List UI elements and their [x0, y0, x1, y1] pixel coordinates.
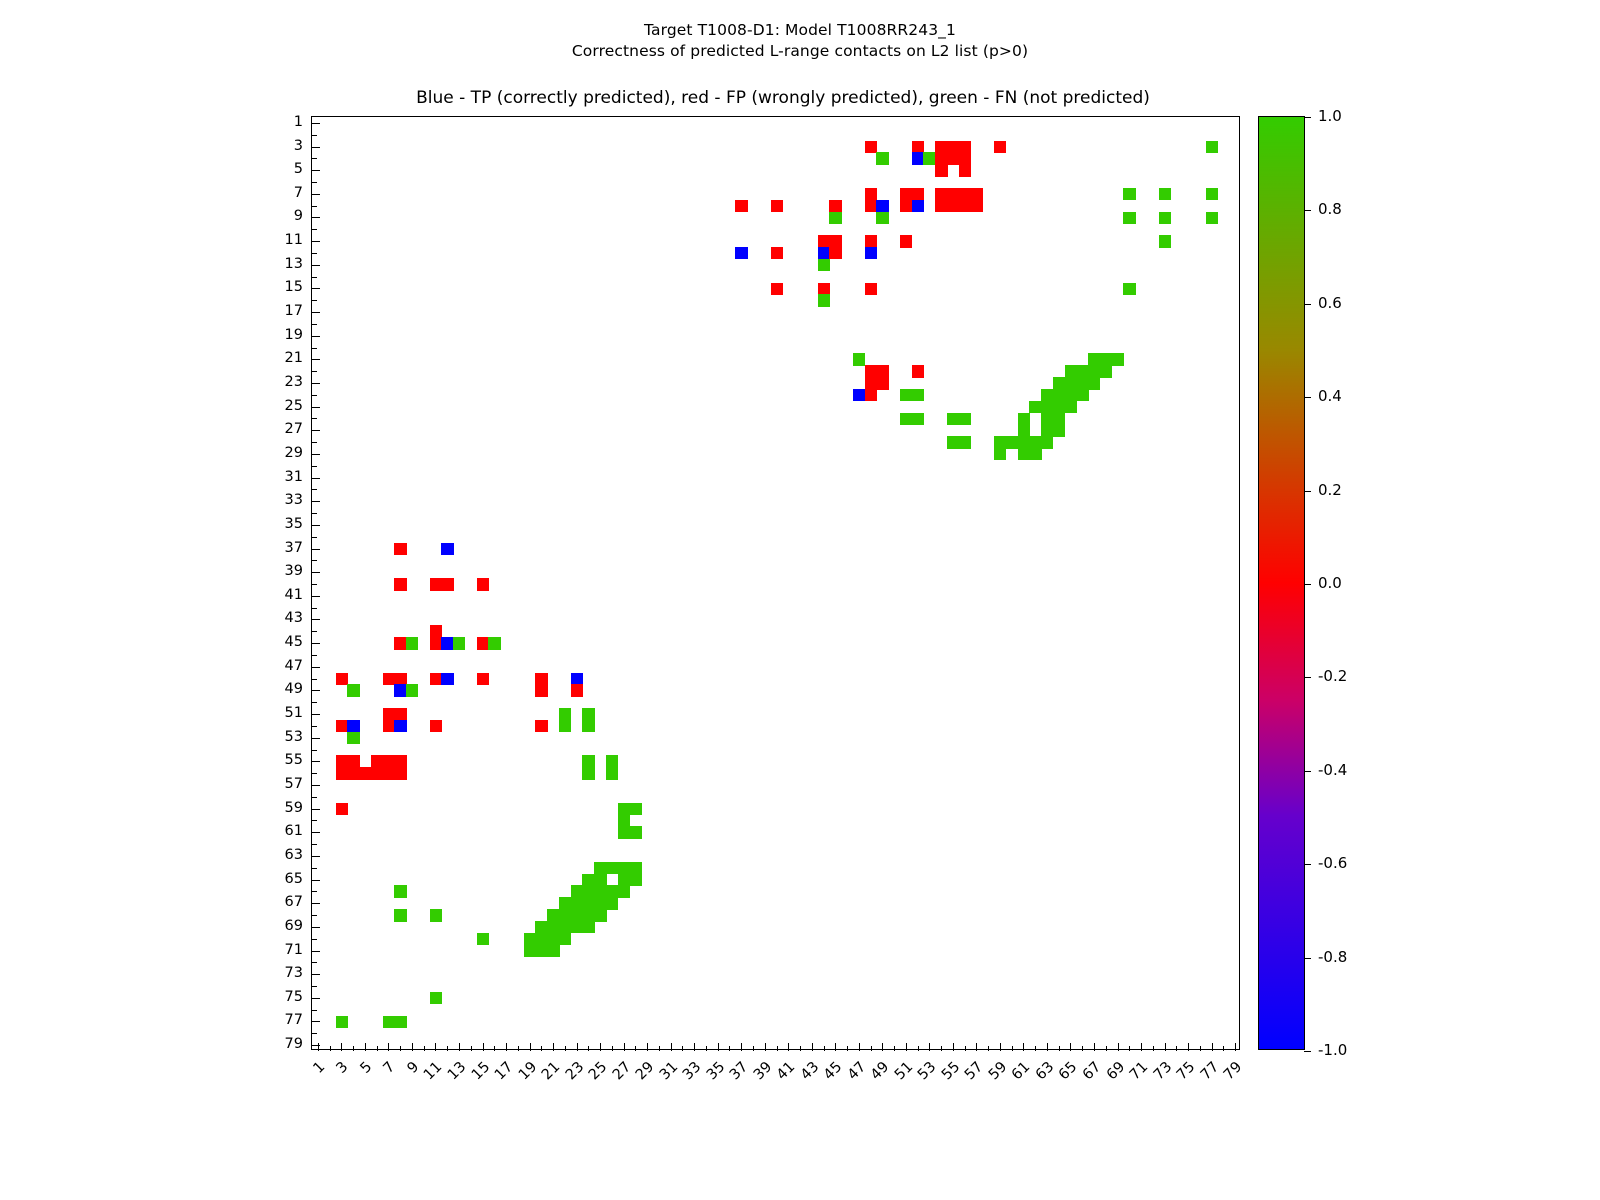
- y-axis-tick: [312, 300, 317, 301]
- figure-legend-note: Blue - TP (correctly predicted), red - F…: [0, 88, 1566, 108]
- x-axis-tick: [1212, 1043, 1213, 1051]
- title-line-2: Correctness of predicted L-range contact…: [0, 41, 1600, 62]
- y-axis-tick: [312, 750, 317, 751]
- x-axis-tick: [1200, 1046, 1201, 1051]
- colorbar-tick: [1304, 864, 1311, 865]
- y-axis-tick-label: 13: [0, 256, 303, 272]
- x-axis-tick: [729, 1046, 730, 1051]
- colorbar-tick-label: 0.0: [1318, 574, 1342, 592]
- y-axis-tick: [312, 939, 317, 940]
- y-axis-tick: [312, 761, 320, 762]
- x-axis-tick: [1070, 1043, 1071, 1051]
- title-line-1: Target T1008-D1: Model T1008RR243_1: [0, 20, 1600, 41]
- y-axis-tick: [312, 1033, 317, 1034]
- y-axis-tick: [312, 324, 317, 325]
- y-axis-tick: [312, 371, 317, 372]
- y-axis-tick: [312, 856, 320, 857]
- x-axis-tick: [400, 1046, 401, 1051]
- x-axis-tick: [965, 1046, 966, 1051]
- y-axis-tick-label: 59: [0, 800, 303, 816]
- x-axis-tick: [1129, 1046, 1130, 1051]
- x-axis-tick: [718, 1043, 719, 1051]
- x-axis-tick: [624, 1043, 625, 1051]
- y-axis-tick-label: 55: [0, 752, 303, 768]
- colorbar-tick-label: 0.2: [1318, 481, 1342, 499]
- y-axis-tick: [312, 537, 317, 538]
- x-axis-tick: [671, 1043, 672, 1051]
- x-axis-tick: [506, 1043, 507, 1051]
- y-axis-tick: [312, 359, 320, 360]
- y-axis-tick: [312, 880, 320, 881]
- x-axis-tick: [1153, 1046, 1154, 1051]
- y-axis-tick: [312, 123, 320, 124]
- y-axis-tick: [312, 395, 317, 396]
- figure-title: Target T1008-D1: Model T1008RR243_1 Corr…: [0, 20, 1600, 62]
- y-axis-tick: [312, 974, 320, 975]
- x-axis-tick: [741, 1043, 742, 1051]
- y-axis-tick: [312, 797, 317, 798]
- x-axis-tick: [577, 1043, 578, 1051]
- y-axis-tick: [312, 986, 317, 987]
- y-axis-tick: [312, 809, 320, 810]
- y-axis-tick-label: 71: [0, 942, 303, 958]
- y-axis-tick: [312, 265, 320, 266]
- x-axis-tick: [800, 1046, 801, 1051]
- axis-ticks-layer: [312, 117, 1239, 1049]
- y-axis-tick-label: 73: [0, 965, 303, 981]
- x-axis-tick: [929, 1043, 930, 1051]
- y-axis-tick: [312, 560, 317, 561]
- y-axis-tick-label: 17: [0, 303, 303, 319]
- y-axis-tick: [312, 738, 320, 739]
- y-axis-tick-label: 39: [0, 563, 303, 579]
- x-axis-tick: [777, 1046, 778, 1051]
- y-axis-tick: [312, 407, 320, 408]
- y-axis-tick: [312, 288, 320, 289]
- x-axis-tick: [647, 1043, 648, 1051]
- y-axis-tick-label: 63: [0, 847, 303, 863]
- colorbar-tick: [1304, 304, 1311, 305]
- x-axis-tick: [765, 1043, 766, 1051]
- x-axis-tick: [541, 1046, 542, 1051]
- y-axis-tick-label: 75: [0, 989, 303, 1005]
- y-axis-tick-label: 37: [0, 540, 303, 556]
- x-axis-tick: [447, 1046, 448, 1051]
- x-axis-tick: [859, 1043, 860, 1051]
- y-axis-tick-label: 21: [0, 350, 303, 366]
- x-axis-tick: [494, 1046, 495, 1051]
- y-axis-tick: [312, 714, 320, 715]
- x-axis-tick: [694, 1043, 695, 1051]
- y-axis-tick: [312, 466, 317, 467]
- y-axis-tick-label: 1: [0, 114, 303, 130]
- y-axis-tick: [312, 182, 317, 183]
- x-axis-tick: [894, 1046, 895, 1051]
- x-axis-tick: [1035, 1046, 1036, 1051]
- x-axis-tick: [600, 1043, 601, 1051]
- colorbar-tick: [1304, 491, 1311, 492]
- y-axis-tick-label: 61: [0, 823, 303, 839]
- colorbar[interactable]: [1258, 116, 1305, 1050]
- colorbar-tick: [1304, 117, 1311, 118]
- y-axis-tick-label: 49: [0, 681, 303, 697]
- y-axis-tick: [312, 643, 320, 644]
- x-axis-tick: [553, 1043, 554, 1051]
- x-axis-tick: [530, 1043, 531, 1051]
- y-axis-tick: [312, 962, 317, 963]
- y-axis-tick: [312, 998, 320, 999]
- y-axis-tick-label: 31: [0, 469, 303, 485]
- colorbar-tick-label: 1.0: [1318, 107, 1342, 125]
- x-axis-tick: [1141, 1043, 1142, 1051]
- y-axis-tick: [312, 217, 320, 218]
- colorbar-tick: [1304, 210, 1311, 211]
- x-axis-tick: [824, 1046, 825, 1051]
- y-axis-tick: [312, 253, 317, 254]
- y-axis-tick-label: 51: [0, 705, 303, 721]
- y-axis-tick-label: 23: [0, 374, 303, 390]
- x-axis-tick: [1059, 1046, 1060, 1051]
- y-axis-tick: [312, 158, 317, 159]
- y-axis-tick: [312, 690, 320, 691]
- x-axis-tick: [1188, 1043, 1189, 1051]
- x-axis-tick: [459, 1043, 460, 1051]
- y-axis-tick-label: 33: [0, 492, 303, 508]
- y-axis-tick-label: 57: [0, 776, 303, 792]
- colorbar-tick: [1304, 584, 1311, 585]
- y-axis-tick: [312, 702, 317, 703]
- y-axis-tick: [312, 513, 317, 514]
- colorbar-tick-label: 0.6: [1318, 294, 1342, 312]
- y-axis-tick: [312, 549, 320, 550]
- y-axis-tick: [312, 915, 317, 916]
- y-axis-tick: [312, 194, 320, 195]
- colorbar-tick-label: -0.6: [1318, 854, 1347, 872]
- x-axis-tick: [365, 1043, 366, 1051]
- x-axis-tick: [835, 1043, 836, 1051]
- x-axis-tick: [330, 1046, 331, 1051]
- y-axis-tick-label: 79: [0, 1036, 303, 1052]
- x-axis-tick: [918, 1046, 919, 1051]
- x-axis-tick: [847, 1046, 848, 1051]
- x-axis-tick: [1082, 1046, 1083, 1051]
- y-axis-tick: [312, 1021, 320, 1022]
- y-axis-tick-label: 19: [0, 327, 303, 343]
- y-axis-tick: [312, 1045, 320, 1046]
- x-axis-tick: [1118, 1043, 1119, 1051]
- x-axis-tick: [435, 1043, 436, 1051]
- x-axis-tick: [518, 1046, 519, 1051]
- y-axis-tick: [312, 336, 320, 337]
- y-axis-tick: [312, 501, 320, 502]
- colorbar-tick-label: -0.8: [1318, 948, 1347, 966]
- x-axis-tick: [706, 1046, 707, 1051]
- y-axis-tick: [312, 348, 317, 349]
- y-axis-tick: [312, 868, 317, 869]
- x-axis-tick: [412, 1043, 413, 1051]
- y-axis-tick: [312, 596, 320, 597]
- x-axis-tick: [565, 1046, 566, 1051]
- x-axis-tick: [1000, 1043, 1001, 1051]
- y-axis-tick-label: 15: [0, 279, 303, 295]
- x-axis-tick: [682, 1046, 683, 1051]
- y-axis-tick: [312, 631, 317, 632]
- y-axis-tick: [312, 891, 317, 892]
- x-axis-tick: [377, 1046, 378, 1051]
- y-axis-tick: [312, 170, 320, 171]
- x-axis-tick: [1176, 1046, 1177, 1051]
- y-axis-tick: [312, 773, 317, 774]
- y-axis-tick-label: 9: [0, 208, 303, 224]
- y-axis-tick-label: 67: [0, 894, 303, 910]
- colorbar-tick-label: -0.4: [1318, 761, 1347, 779]
- x-axis-tick: [353, 1046, 354, 1051]
- contact-map-plot-area[interactable]: [311, 116, 1240, 1050]
- x-axis-tick: [988, 1046, 989, 1051]
- colorbar-tick-label: 0.8: [1318, 200, 1342, 218]
- y-axis-tick: [312, 418, 317, 419]
- y-axis-tick-label: 47: [0, 658, 303, 674]
- y-axis-tick: [312, 903, 320, 904]
- colorbar-tick: [1304, 677, 1311, 678]
- x-axis-tick: [1235, 1043, 1236, 1051]
- x-axis-tick: [1094, 1043, 1095, 1051]
- y-axis-tick: [312, 619, 320, 620]
- colorbar-tick-label: 0.4: [1318, 387, 1342, 405]
- colorbar-tick: [1304, 771, 1311, 772]
- y-axis-tick: [312, 667, 320, 668]
- y-axis-tick: [312, 844, 317, 845]
- contact-map-figure: Target T1008-D1: Model T1008RR243_1 Corr…: [0, 0, 1600, 1200]
- x-axis-tick: [976, 1043, 977, 1051]
- x-axis-tick: [882, 1043, 883, 1051]
- y-axis-tick-label: 41: [0, 587, 303, 603]
- x-axis-tick: [1165, 1043, 1166, 1051]
- x-axis-tick: [788, 1043, 789, 1051]
- y-axis-tick: [312, 206, 317, 207]
- y-axis-tick: [312, 430, 320, 431]
- y-axis-tick: [312, 454, 320, 455]
- y-axis-tick: [312, 383, 320, 384]
- y-axis-tick: [312, 572, 320, 573]
- x-axis-tick: [1012, 1046, 1013, 1051]
- y-axis-tick: [312, 927, 320, 928]
- x-axis-tick: [1047, 1043, 1048, 1051]
- y-axis-tick: [312, 478, 320, 479]
- y-axis-tick: [312, 726, 317, 727]
- y-axis-tick: [312, 584, 317, 585]
- y-axis-tick: [312, 832, 320, 833]
- y-axis-tick: [312, 442, 317, 443]
- x-axis-tick: [483, 1043, 484, 1051]
- x-axis-tick: [812, 1043, 813, 1051]
- y-axis-tick: [312, 608, 317, 609]
- colorbar-tick-label: -0.2: [1318, 667, 1347, 685]
- x-axis-tick: [471, 1046, 472, 1051]
- y-axis-tick-label: 7: [0, 185, 303, 201]
- x-axis-tick: [341, 1043, 342, 1051]
- y-axis-tick: [312, 489, 317, 490]
- y-axis-tick: [312, 785, 320, 786]
- y-axis-tick-label: 27: [0, 421, 303, 437]
- y-axis-tick-label: 11: [0, 232, 303, 248]
- y-axis-tick-label: 69: [0, 918, 303, 934]
- x-axis-tick: [1223, 1046, 1224, 1051]
- y-axis-tick: [312, 525, 320, 526]
- x-axis-tick: [612, 1046, 613, 1051]
- colorbar-tick: [1304, 1051, 1311, 1052]
- colorbar-tick-label: -1.0: [1318, 1041, 1347, 1059]
- x-axis-tick: [953, 1043, 954, 1051]
- y-axis-tick: [312, 1010, 317, 1011]
- x-axis-tick: [753, 1046, 754, 1051]
- y-axis-tick: [312, 312, 320, 313]
- x-axis-tick: [871, 1046, 872, 1051]
- y-axis-tick-label: 77: [0, 1012, 303, 1028]
- x-axis-tick: [941, 1046, 942, 1051]
- y-axis-tick: [312, 147, 320, 148]
- x-axis-tick: [388, 1043, 389, 1051]
- y-axis-tick-label: 25: [0, 398, 303, 414]
- y-axis-tick-label: 29: [0, 445, 303, 461]
- y-axis-tick-label: 3: [0, 138, 303, 154]
- x-axis-tick: [1106, 1046, 1107, 1051]
- y-axis-tick-label: 5: [0, 161, 303, 177]
- x-axis-tick: [424, 1046, 425, 1051]
- y-axis-tick: [312, 820, 317, 821]
- y-axis-tick-label: 35: [0, 516, 303, 532]
- y-axis-tick: [312, 277, 317, 278]
- y-axis-tick: [312, 951, 320, 952]
- y-axis-tick-label: 43: [0, 610, 303, 626]
- x-axis-tick: [659, 1046, 660, 1051]
- y-axis-tick-label: 65: [0, 871, 303, 887]
- x-axis-tick: [588, 1046, 589, 1051]
- y-axis-tick: [312, 679, 317, 680]
- x-axis-tick: [906, 1043, 907, 1051]
- colorbar-tick: [1304, 958, 1311, 959]
- x-axis-tick: [1023, 1043, 1024, 1051]
- y-axis-tick: [312, 241, 320, 242]
- y-axis-tick: [312, 135, 317, 136]
- colorbar-tick: [1304, 397, 1311, 398]
- y-axis-tick: [312, 655, 317, 656]
- x-axis-tick: [635, 1046, 636, 1051]
- y-axis-tick-label: 53: [0, 729, 303, 745]
- y-axis-tick-label: 45: [0, 634, 303, 650]
- y-axis-tick: [312, 229, 317, 230]
